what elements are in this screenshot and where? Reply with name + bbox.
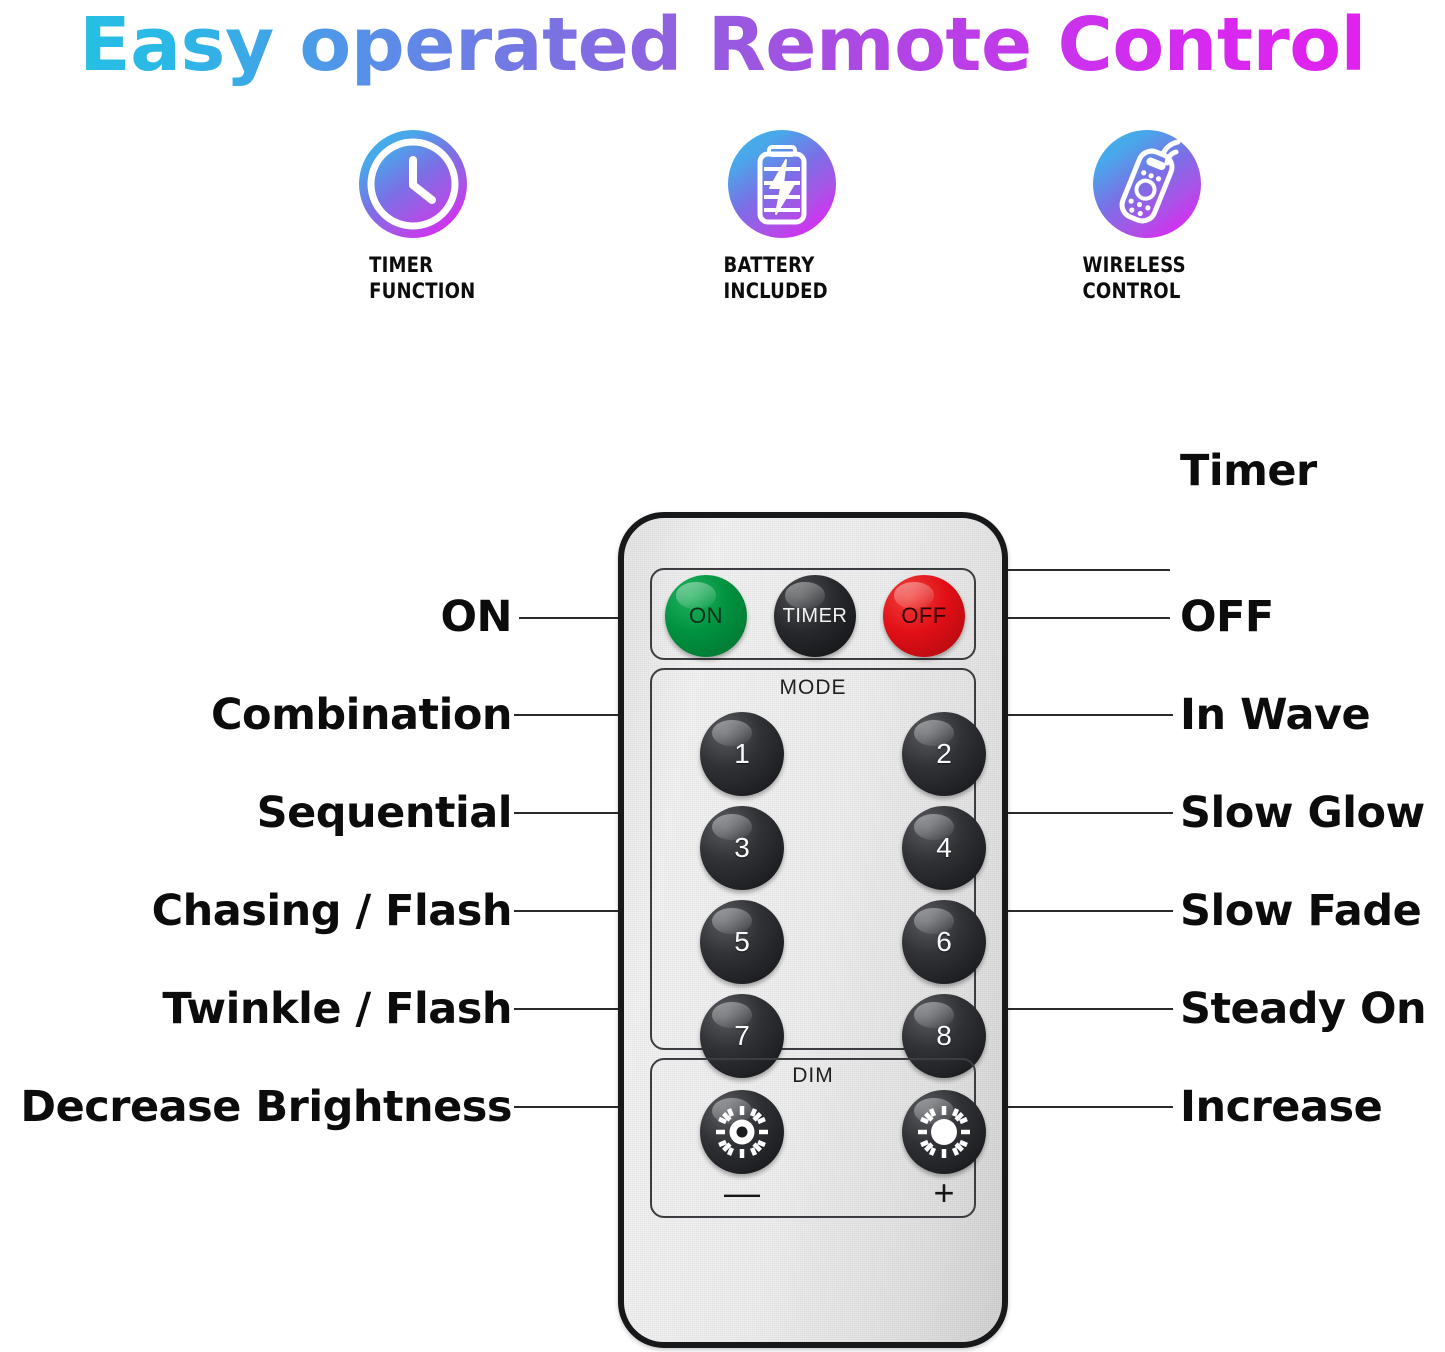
remote-control-body: ON TIMER OFF MODE 1 2 3 4 xyxy=(618,512,1008,1348)
mode-button-5[interactable]: 5 xyxy=(700,900,784,984)
mode-panel: MODE 1 2 3 4 5 6 7 8 xyxy=(650,668,976,1050)
callout-slow-fade: Slow Fade xyxy=(1180,886,1421,936)
mode-button-label: 4 xyxy=(936,832,952,864)
dim-panel: DIM xyxy=(650,1058,976,1218)
mode-button-6[interactable]: 6 xyxy=(902,900,986,984)
mode-button-label: 5 xyxy=(734,926,750,958)
off-button-label: OFF xyxy=(901,603,947,629)
sun-bright-icon xyxy=(915,1103,973,1161)
on-button-label: ON xyxy=(689,603,723,629)
dim-down-button[interactable] xyxy=(700,1090,784,1174)
dim-minus-sign: — xyxy=(700,1178,784,1208)
mode-button-label: 8 xyxy=(936,1020,952,1052)
on-button[interactable]: ON xyxy=(665,575,747,657)
callout-slow-glow: Slow Glow xyxy=(1180,788,1425,838)
mode-button-label: 7 xyxy=(734,1020,750,1052)
dim-panel-title: DIM xyxy=(652,1064,974,1088)
mode-button-label: 3 xyxy=(734,832,750,864)
callout-combination: Combination xyxy=(12,690,512,740)
callout-in-wave: In Wave xyxy=(1180,690,1370,740)
timer-button-label: TIMER xyxy=(783,605,848,628)
callout-on: ON xyxy=(12,592,512,642)
timer-button[interactable]: TIMER xyxy=(774,575,856,657)
mode-button-4[interactable]: 4 xyxy=(902,806,986,890)
dim-plus-sign: + xyxy=(902,1178,986,1208)
callout-sequential: Sequential xyxy=(12,788,512,838)
mode-button-2[interactable]: 2 xyxy=(902,712,986,796)
callout-steady-on: Steady On xyxy=(1180,984,1426,1034)
mode-button-label: 6 xyxy=(936,926,952,958)
mode-button-3[interactable]: 3 xyxy=(700,806,784,890)
callout-decrease-brightness: Decrease Brightness xyxy=(0,1082,512,1132)
dim-up-button[interactable] xyxy=(902,1090,986,1174)
callout-increase: Increase xyxy=(1180,1082,1382,1132)
mode-button-1[interactable]: 1 xyxy=(700,712,784,796)
callout-timer: Timer xyxy=(1180,446,1317,496)
callout-twinkle-flash: Twinkle / Flash xyxy=(12,984,512,1034)
callout-off: OFF xyxy=(1180,592,1274,642)
mode-button-label: 2 xyxy=(936,738,952,770)
off-button[interactable]: OFF xyxy=(883,575,965,657)
mode-button-label: 1 xyxy=(734,738,750,770)
sun-dim-icon xyxy=(713,1103,771,1161)
mode-panel-title: MODE xyxy=(652,676,974,700)
power-panel: ON TIMER OFF xyxy=(650,568,976,660)
callout-chasing-flash: Chasing / Flash xyxy=(12,886,512,936)
